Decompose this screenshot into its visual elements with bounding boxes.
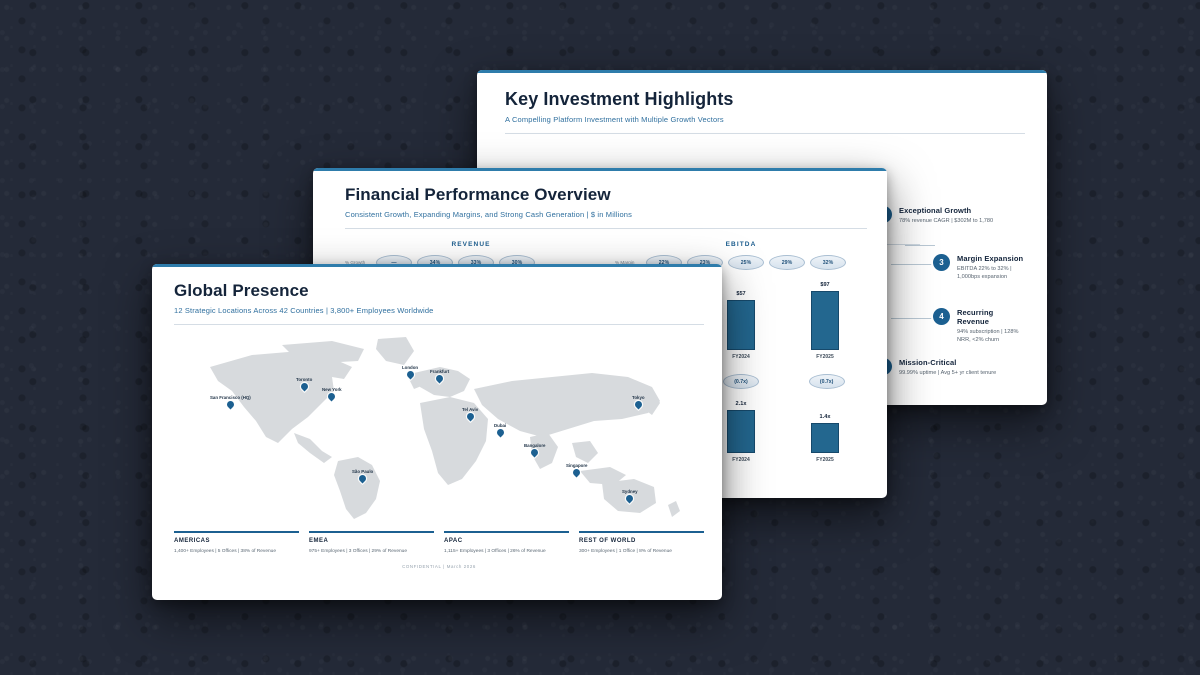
highlight-title: Mission-Critical: [899, 358, 996, 367]
location-pin-icon: [625, 494, 635, 504]
connector-2: [905, 245, 935, 246]
slide-global-presence[interactable]: Global Presence 12 Strategic Locations A…: [152, 264, 722, 600]
city-label: Tokyo: [632, 395, 645, 400]
city-label: Sydney: [622, 489, 638, 494]
region-name: APAC: [444, 538, 569, 544]
page-title: Financial Performance Overview: [345, 185, 867, 205]
region-accent-bar: [174, 531, 299, 533]
map-pin-singapore[interactable]: Singapore: [566, 463, 587, 476]
bar-group: $97 FY2025: [811, 282, 839, 360]
bar-label: FY2024: [732, 354, 750, 360]
highlight-number: 4: [933, 308, 950, 325]
city-label: Dubai: [494, 423, 506, 428]
region-cards: AMERICAS 1,400+ Employees | 5 Offices | …: [174, 531, 704, 555]
location-pin-icon: [435, 374, 445, 384]
city-label: Tel Aviv: [462, 407, 478, 412]
map-pin-san-francisco[interactable]: San Francisco (HQ): [210, 395, 251, 408]
highlight-item-2[interactable]: 2 Exceptional Growth 78% revenue CAGR | …: [875, 206, 993, 225]
highlight-title: Recurring Revenue: [957, 308, 1025, 326]
world-map: San Francisco (HQ) Toronto New York São …: [174, 331, 704, 527]
page-subtitle: A Compelling Platform Investment with Mu…: [505, 115, 1025, 124]
map-pin-new-york[interactable]: New York: [322, 387, 342, 400]
bar-group: $57 FY2024: [727, 282, 755, 360]
location-pin-icon: [465, 412, 475, 422]
map-pin-bangalore[interactable]: Bangalore: [524, 443, 545, 456]
city-label: London: [402, 365, 418, 370]
highlight-item-4[interactable]: 4 Recurring Revenue 94% subscription | 1…: [933, 308, 1025, 344]
bar-group: 1.4x FY2025: [811, 401, 839, 463]
region-accent-bar: [309, 531, 434, 533]
turns-pill: (0.7x): [723, 374, 759, 389]
location-pin-icon: [358, 474, 368, 484]
slide-footer: CONFIDENTIAL | March 2026: [174, 564, 704, 569]
title-divider: [174, 324, 704, 325]
title-divider: [345, 228, 867, 229]
highlight-detail: 99.99% uptime | Avg 5+ yr client tenure: [899, 369, 996, 377]
map-pin-sao-paulo[interactable]: São Paulo: [352, 469, 373, 482]
highlight-detail: 78% revenue CAGR | $302M to 1,780: [899, 217, 993, 225]
region-card-americas[interactable]: AMERICAS 1,400+ Employees | 5 Offices | …: [174, 531, 299, 555]
city-label: Toronto: [296, 377, 312, 382]
region-accent-bar: [444, 531, 569, 533]
margin-pill: 29%: [769, 255, 805, 270]
bar-value: 2.1x: [736, 401, 747, 407]
map-pin-toronto[interactable]: Toronto: [296, 377, 312, 390]
bar: [727, 410, 755, 453]
page-title: Key Investment Highlights: [505, 89, 1025, 110]
location-pin-icon: [225, 400, 235, 410]
region-name: AMERICAS: [174, 538, 299, 544]
region-card-apac[interactable]: APAC 1,115+ Employees | 3 Offices | 26% …: [444, 531, 569, 555]
page-subtitle: 12 Strategic Locations Across 42 Countri…: [174, 306, 704, 315]
location-pin-icon: [299, 382, 309, 392]
bar-label: FY2024: [732, 457, 750, 463]
title-divider: [505, 133, 1025, 134]
region-name: REST OF WORLD: [579, 538, 704, 544]
map-pin-tokyo[interactable]: Tokyo: [632, 395, 645, 408]
map-pin-frankfurt[interactable]: Frankfurt: [430, 369, 449, 382]
bar-value: $97: [820, 282, 829, 288]
city-label: Bangalore: [524, 443, 545, 448]
region-accent-bar: [579, 531, 704, 533]
highlight-title: Margin Expansion: [957, 254, 1025, 263]
map-pin-london[interactable]: London: [402, 365, 418, 378]
highlight-number: 3: [933, 254, 950, 271]
page-subtitle: Consistent Growth, Expanding Margins, an…: [345, 210, 867, 219]
region-detail: 1,400+ Employees | 5 Offices | 38% of Re…: [174, 548, 299, 555]
bar: [811, 423, 839, 453]
bar-label: FY2025: [816, 354, 834, 360]
location-pin-icon: [530, 448, 540, 458]
location-pin-icon: [633, 400, 643, 410]
chart-heading: EBITDA: [615, 241, 867, 248]
city-label: Frankfurt: [430, 369, 449, 374]
turns-pill: (0.7x): [809, 374, 845, 389]
location-pin-icon: [327, 392, 337, 402]
location-pin-icon: [572, 468, 582, 478]
margin-pill: 32%: [810, 255, 846, 270]
map-pin-dubai[interactable]: Dubai: [494, 423, 506, 436]
region-detail: 1,115+ Employees | 3 Offices | 26% of Re…: [444, 548, 569, 555]
map-pin-tel-aviv[interactable]: Tel Aviv: [462, 407, 478, 420]
location-pin-icon: [495, 428, 505, 438]
connector-3: [891, 264, 935, 265]
bar-value: 1.4x: [820, 414, 831, 420]
region-card-rest-of-world[interactable]: REST OF WORLD 300+ Employees | 1 Office …: [579, 531, 704, 555]
region-detail: 300+ Employees | 1 Office | 8% of Revenu…: [579, 548, 704, 555]
page-title: Global Presence: [174, 281, 704, 301]
connector-4: [891, 318, 935, 319]
city-label: San Francisco (HQ): [210, 395, 251, 400]
chart-heading: REVENUE: [345, 241, 597, 248]
bar-group: 2.1x FY2024: [727, 401, 755, 463]
bar: [727, 300, 755, 350]
region-detail: 975+ Employees | 3 Offices | 29% of Reve…: [309, 548, 434, 555]
bar-label: FY2025: [816, 457, 834, 463]
bar-value: $57: [736, 291, 745, 297]
highlight-item-5[interactable]: 5 Mission-Critical 99.99% uptime | Avg 5…: [875, 358, 996, 377]
city-label: Singapore: [566, 463, 587, 468]
bar: [811, 291, 839, 350]
highlight-detail: 94% subscription | 128% NRR, <2% churn: [957, 328, 1025, 344]
highlight-detail: EBITDA 22% to 32% | 1,000bps expansion: [957, 265, 1025, 281]
city-label: São Paulo: [352, 469, 373, 474]
margin-pill: 25%: [728, 255, 764, 270]
city-label: New York: [322, 387, 342, 392]
highlight-item-3[interactable]: 3 Margin Expansion EBITDA 22% to 32% | 1…: [933, 254, 1025, 281]
region-card-emea[interactable]: EMEA 975+ Employees | 3 Offices | 29% of…: [309, 531, 434, 555]
map-pin-sydney[interactable]: Sydney: [622, 489, 638, 502]
location-pin-icon: [405, 370, 415, 380]
highlight-title: Exceptional Growth: [899, 206, 993, 215]
region-name: EMEA: [309, 538, 434, 544]
